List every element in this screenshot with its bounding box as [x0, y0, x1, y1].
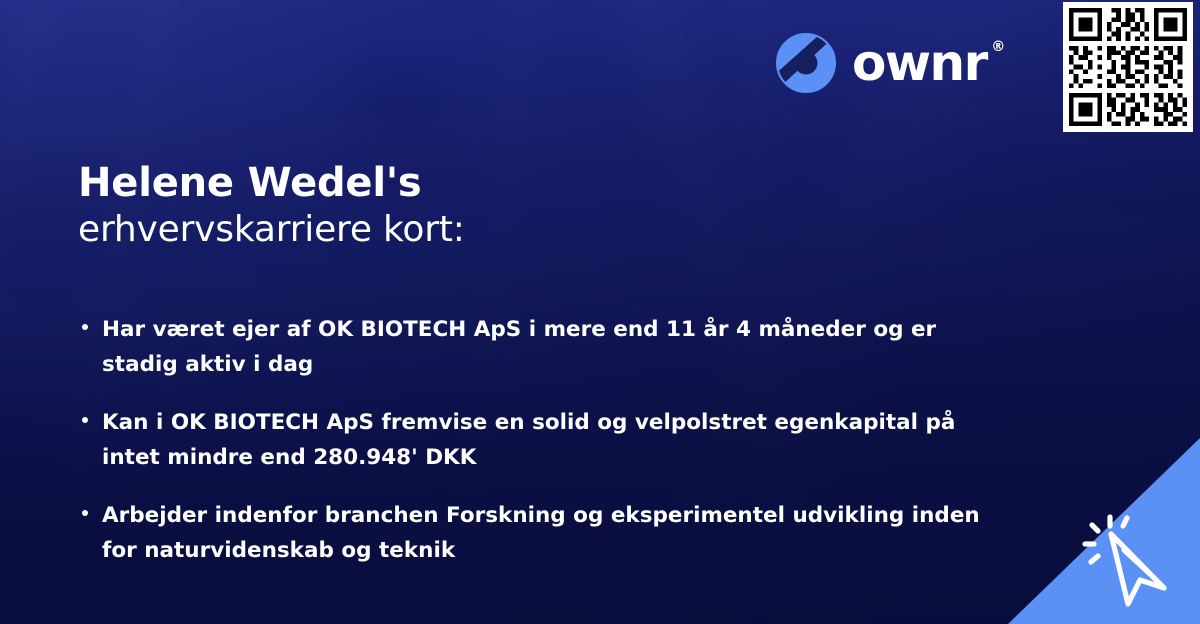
title-line-2: erhvervskarriere kort: — [78, 206, 465, 255]
list-item-text: Kan i OK BIOTECH ApS fremvise en solid o… — [102, 410, 955, 470]
qr-code[interactable] — [1063, 2, 1193, 132]
bullet-dot-icon — [82, 324, 88, 330]
brand-name: ownr — [852, 34, 987, 92]
list-item: Arbejder indenfor branchen Forskning og … — [80, 498, 1010, 569]
registered-trademark-icon: ® — [991, 40, 1004, 54]
brand-wordmark: ownr® — [852, 38, 987, 88]
ownr-circle-swoosh-logo — [776, 33, 836, 93]
career-facts-list: Har været ejer af OK BIOTECH ApS i mere … — [80, 312, 1010, 569]
list-item-text: Har været ejer af OK BIOTECH ApS i mere … — [102, 317, 936, 377]
brand-lockup[interactable]: ownr® — [776, 33, 987, 93]
bullet-dot-icon — [82, 510, 88, 516]
title-line-1: Helene Wedel's — [78, 160, 465, 206]
business-card-banner: ownr® Helene Wedel's erhvervskarriere ko… — [0, 0, 1200, 624]
list-item: Kan i OK BIOTECH ApS fremvise en solid o… — [80, 405, 1010, 476]
list-item-text: Arbejder indenfor branchen Forskning og … — [102, 503, 980, 563]
page-title: Helene Wedel's erhvervskarriere kort: — [78, 160, 465, 255]
click-cursor-icon — [1080, 502, 1192, 614]
bullet-dot-icon — [82, 417, 88, 423]
list-item: Har været ejer af OK BIOTECH ApS i mere … — [80, 312, 1010, 383]
